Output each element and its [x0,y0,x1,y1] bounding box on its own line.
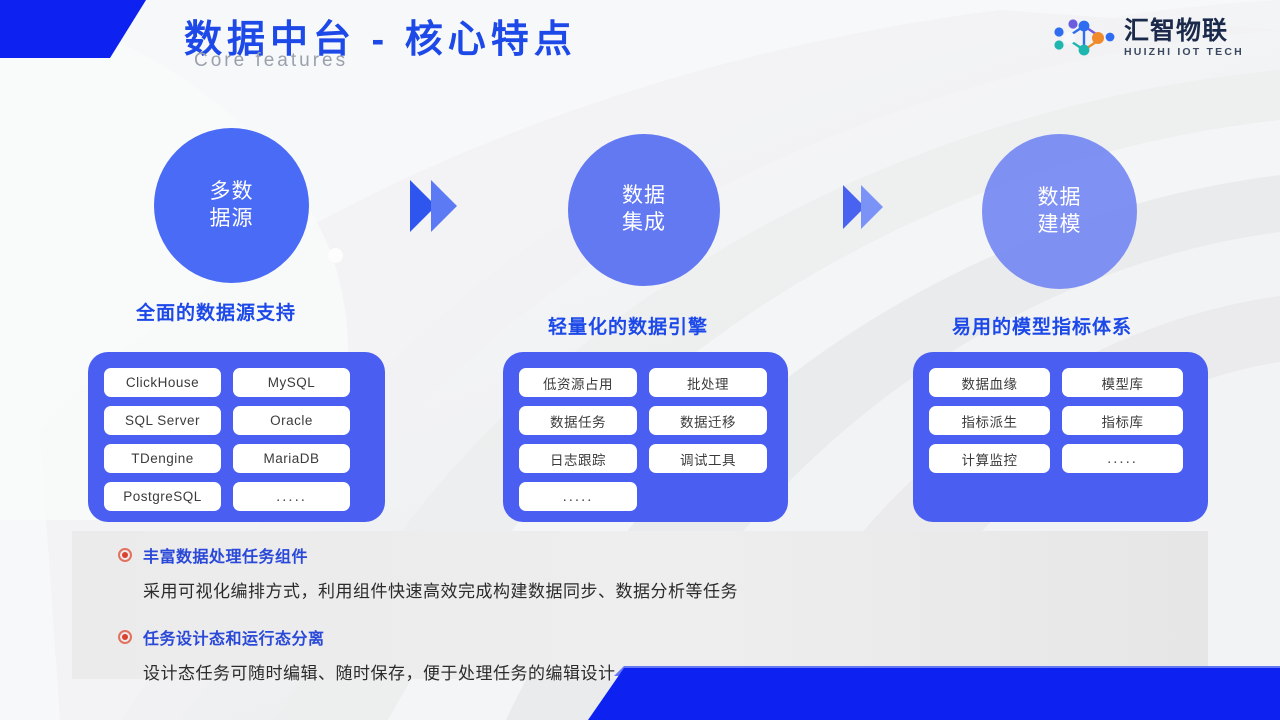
note-1-title: 丰富数据处理任务组件 [143,543,308,567]
chip-item[interactable]: 指标派生 [929,406,1050,435]
flow-arrow-2 [843,185,883,229]
group-caption-2: 轻量化的数据引擎 [548,312,708,339]
group-box-model: 数据血缘 模型库 指标派生 指标库 计算监控 ..... [913,352,1208,522]
radio-bullet-icon [118,630,132,644]
chip-item[interactable]: ClickHouse [104,368,221,397]
radio-bullet-icon [118,548,132,562]
footer-accent-shape [588,668,1280,720]
page-subtitle: Core features [194,50,348,72]
chip-item[interactable]: PostgreSQL [104,482,221,511]
chip-item[interactable]: 数据任务 [519,406,637,435]
chip-item[interactable]: 低资源占用 [519,368,637,397]
note-2-body: 设计态任务可随时编辑、随时保存，便于处理任务的编辑设计 [143,659,616,684]
note-1-body: 采用可视化编排方式，利用组件快速高效完成构建数据同步、数据分析等任务 [143,577,738,602]
molecule-node-icon [1052,15,1116,61]
note-item-1: 丰富数据处理任务组件 采用可视化编排方式，利用组件快速高效完成构建数据同步、数据… [118,543,738,602]
note-1-head: 丰富数据处理任务组件 [118,543,738,567]
chip-item-more[interactable]: ..... [519,482,637,511]
stage-2-line1: 数据 [622,183,666,210]
chip-item[interactable]: 数据血缘 [929,368,1050,397]
note-2-head: 任务设计态和运行态分离 [118,625,616,649]
stage-2-line2: 集成 [622,210,666,237]
stage-circle-1: 多数 据源 [154,128,309,283]
logo-name-cn: 汇智物联 [1124,18,1244,44]
chip-item[interactable]: 模型库 [1062,368,1183,397]
chip-item[interactable]: SQL Server [104,406,221,435]
double-chevron-right-icon [431,180,457,232]
chip-item[interactable]: 数据迁移 [649,406,767,435]
note-item-2: 任务设计态和运行态分离 设计态任务可随时编辑、随时保存，便于处理任务的编辑设计 [118,625,616,684]
chip-item[interactable]: MySQL [233,368,350,397]
chip-item[interactable]: Oracle [233,406,350,435]
chip-item[interactable]: 调试工具 [649,444,767,473]
stage-circle-2: 数据 集成 [568,134,720,286]
stage-1-line1: 多数 [210,179,254,206]
chip-item[interactable]: MariaDB [233,444,350,473]
stage-1-line2: 据源 [210,206,254,233]
flow-arrow-1 [410,180,457,232]
stage-circle-3: 数据 建模 [982,134,1137,289]
brand-logo: 汇智物联 HUIZHI IOT TECH [1052,10,1264,66]
chip-item[interactable]: 计算监控 [929,444,1050,473]
chip-item[interactable]: 批处理 [649,368,767,397]
chip-item-more[interactable]: ..... [1062,444,1183,473]
chip-item[interactable]: TDengine [104,444,221,473]
slide-canvas: 数据中台 - 核心特点 Core features 汇智物联 HUIZHI IO… [0,0,1280,720]
note-2-title: 任务设计态和运行态分离 [143,625,325,649]
chip-item-more[interactable]: ..... [233,482,350,511]
group-box-datasources: ClickHouse MySQL SQL Server Oracle TDeng… [88,352,385,522]
logo-name-en: HUIZHI IOT TECH [1124,46,1244,58]
group-caption-1: 全面的数据源支持 [136,298,296,325]
chip-item[interactable]: 指标库 [1062,406,1183,435]
group-box-engine: 低资源占用 批处理 数据任务 数据迁移 日志跟踪 调试工具 ..... [503,352,788,522]
double-chevron-right-icon [861,185,883,229]
chip-item[interactable]: 日志跟踪 [519,444,637,473]
group-caption-3: 易用的模型指标体系 [952,312,1132,339]
notes-panel: 丰富数据处理任务组件 采用可视化编排方式，利用组件快速高效完成构建数据同步、数据… [72,531,1208,679]
decorative-dot [328,248,343,263]
stage-3-line2: 建模 [1038,212,1082,239]
header-accent-shape [0,0,146,58]
stage-3-line1: 数据 [1038,185,1082,212]
